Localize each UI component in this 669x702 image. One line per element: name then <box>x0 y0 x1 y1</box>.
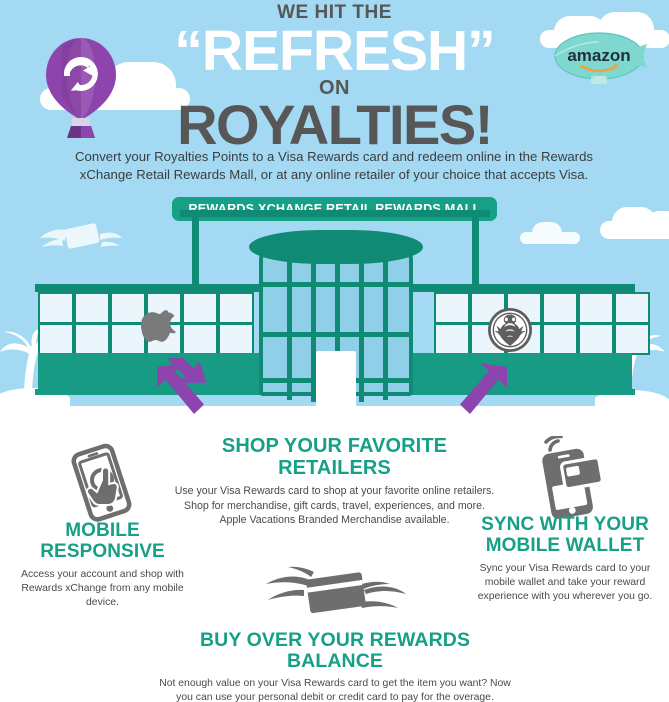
feature-wallet-title-line2: MOBILE WALLET <box>486 535 645 556</box>
mall-windows-right-row2 <box>434 323 650 355</box>
feature-buy-title: BUY OVER YOUR REWARDS BALANCE <box>150 630 520 672</box>
mall-roof-post-left <box>192 210 199 288</box>
feature-wallet-title-line1: SYNC WITH YOUR <box>481 514 649 535</box>
feature-wallet-title: SYNC WITH YOUR MOBILE WALLET <box>466 515 664 556</box>
mall-building-illustration <box>0 210 669 410</box>
winged-card-icon <box>258 560 410 626</box>
headline-refresh: “REFRESH” <box>0 24 669 78</box>
feature-wallet-body: Sync your Visa Rewards card to your mobi… <box>466 562 664 603</box>
phone-wallet-nfc-icon <box>528 436 616 520</box>
arrow-to-apple-logo <box>148 358 224 434</box>
feature-mobile-title-line2: RESPONSIVE <box>40 541 165 562</box>
arrow-to-starbucks-logo <box>440 358 516 434</box>
feature-buy-over-balance: BUY OVER YOUR REWARDS BALANCE Not enough… <box>150 630 520 702</box>
feature-mobile-title: MOBILE RESPONSIVE <box>10 521 195 562</box>
mall-windows-right-row1 <box>434 292 650 324</box>
mall-roof-post-right <box>472 210 479 288</box>
starbucks-logo-icon <box>487 306 533 354</box>
phone-tap-icon <box>62 442 146 526</box>
feature-shop-title: SHOP YOUR FAVORITE RETAILERS <box>172 436 497 479</box>
apple-logo-icon <box>140 307 182 355</box>
mall-roof-beam <box>180 210 490 217</box>
feature-shop-body: Use your Visa Rewards card to shop at yo… <box>172 484 497 528</box>
feature-mobile-title-line1: MOBILE <box>65 520 140 541</box>
infographic-root: amazon WE HIT THE “REFRESH” ON ROYALTIES… <box>0 0 669 702</box>
feature-mobile-wallet: SYNC WITH YOUR MOBILE WALLET Sync your V… <box>466 515 664 603</box>
subheadline-text: Convert your Royalties Points to a Visa … <box>64 148 604 184</box>
feature-buy-body: Not enough value on your Visa Rewards ca… <box>150 677 520 702</box>
feature-shop-retailers: SHOP YOUR FAVORITE RETAILERS Use your Vi… <box>172 436 497 528</box>
feature-mobile-responsive: MOBILE RESPONSIVE Access your account an… <box>10 521 195 609</box>
headline-block: WE HIT THE “REFRESH” ON ROYALTIES! <box>0 0 669 152</box>
headline-royalties: ROYALTIES! <box>0 98 669 152</box>
mall-atrium-entrance[interactable] <box>243 228 429 413</box>
feature-mobile-body: Access your account and shop with Reward… <box>10 568 195 609</box>
